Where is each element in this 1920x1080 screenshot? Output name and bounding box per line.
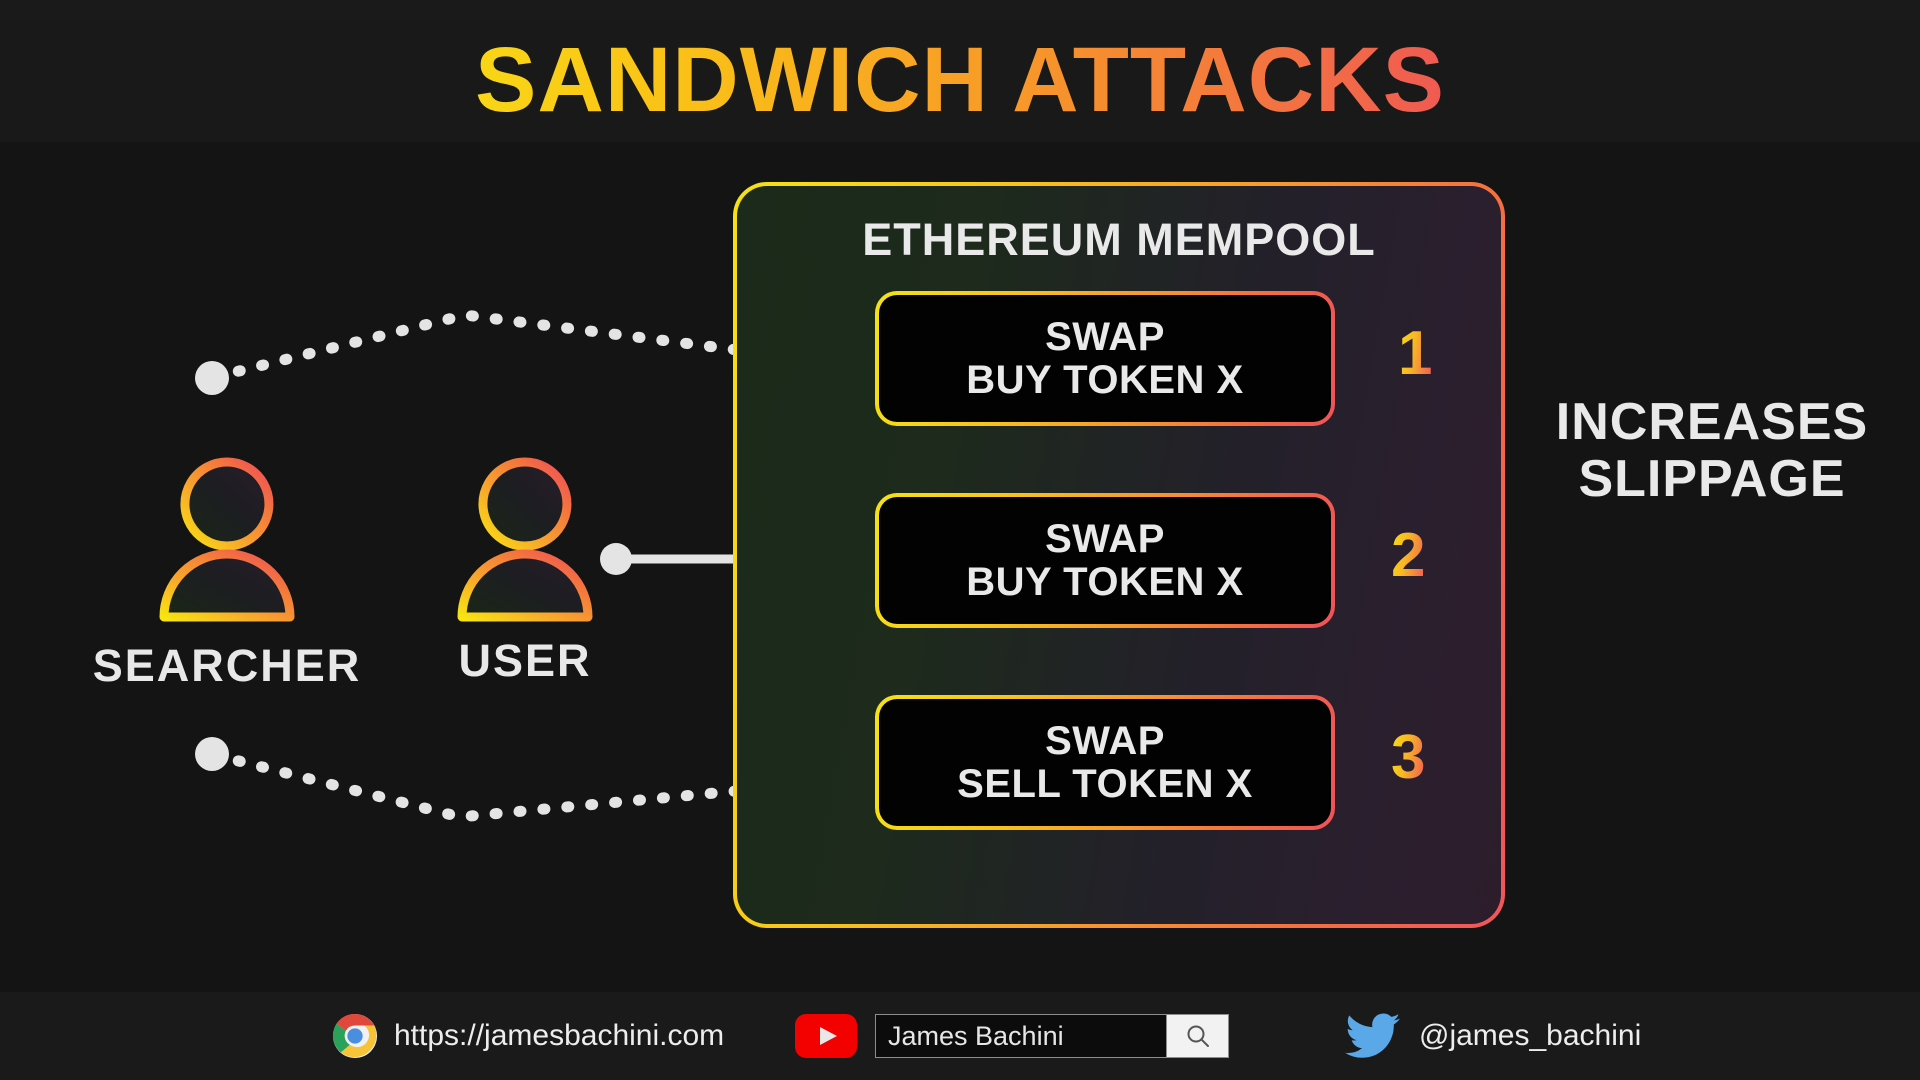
footer-website[interactable]: https://jamesbachini.com bbox=[332, 992, 724, 1080]
step-number-3: 3 bbox=[1391, 727, 1425, 789]
increases-slippage-note: INCREASES SLIPPAGE bbox=[1522, 394, 1902, 508]
note-line-1: INCREASES bbox=[1522, 394, 1902, 451]
swap-card-3-inner: SWAP SELL TOKEN X bbox=[879, 699, 1331, 826]
infographic-canvas: SANDWICH ATTACKS bbox=[0, 0, 1920, 1080]
chrome-icon bbox=[332, 1013, 378, 1059]
swap-card-1-inner: SWAP BUY TOKEN X bbox=[879, 295, 1331, 422]
swap-card-1-line1: SWAP bbox=[1045, 316, 1165, 358]
step-number-1: 1 bbox=[1398, 323, 1432, 385]
page-title: SANDWICH ATTACKS bbox=[475, 34, 1445, 126]
header-band: SANDWICH ATTACKS bbox=[0, 18, 1920, 142]
twitter-handle: @james_bachini bbox=[1419, 1019, 1641, 1053]
youtube-search-button[interactable] bbox=[1166, 1015, 1228, 1057]
note-line-2: SLIPPAGE bbox=[1522, 451, 1902, 508]
twitter-icon bbox=[1345, 1013, 1401, 1059]
mempool-inner: ETHEREUM MEMPOOL SWAP BUY TOKEN X SWAP B… bbox=[737, 186, 1501, 924]
swap-card-1-line2: BUY TOKEN X bbox=[966, 359, 1243, 401]
ethereum-mempool-box: ETHEREUM MEMPOOL SWAP BUY TOKEN X SWAP B… bbox=[733, 182, 1505, 928]
youtube-search-box[interactable]: James Bachini bbox=[875, 1014, 1229, 1058]
step-number-2: 2 bbox=[1391, 525, 1425, 587]
swap-card-2[interactable]: SWAP BUY TOKEN X bbox=[875, 493, 1335, 628]
user-avatar bbox=[440, 452, 610, 627]
swap-card-3[interactable]: SWAP SELL TOKEN X bbox=[875, 695, 1335, 830]
swap-card-3-line2: SELL TOKEN X bbox=[957, 763, 1253, 805]
searcher-label: SEARCHER bbox=[57, 640, 397, 692]
swap-card-3-line1: SWAP bbox=[1045, 720, 1165, 762]
youtube-search-input[interactable]: James Bachini bbox=[876, 1015, 1166, 1057]
top-band bbox=[0, 0, 1920, 18]
footer-twitter[interactable]: @james_bachini bbox=[1345, 992, 1641, 1080]
searcher-avatar bbox=[142, 452, 312, 627]
person-icon bbox=[142, 452, 312, 627]
user-label: USER bbox=[355, 635, 695, 687]
search-icon bbox=[1185, 1023, 1211, 1049]
swap-card-2-line1: SWAP bbox=[1045, 518, 1165, 560]
youtube-icon bbox=[795, 1014, 857, 1058]
footer-youtube[interactable]: James Bachini bbox=[795, 992, 1229, 1080]
person-icon bbox=[440, 452, 610, 627]
swap-card-1[interactable]: SWAP BUY TOKEN X bbox=[875, 291, 1335, 426]
swap-card-2-inner: SWAP BUY TOKEN X bbox=[879, 497, 1331, 624]
swap-card-2-line2: BUY TOKEN X bbox=[966, 561, 1243, 603]
website-url: https://jamesbachini.com bbox=[394, 1019, 724, 1053]
mempool-title: ETHEREUM MEMPOOL bbox=[737, 214, 1501, 266]
